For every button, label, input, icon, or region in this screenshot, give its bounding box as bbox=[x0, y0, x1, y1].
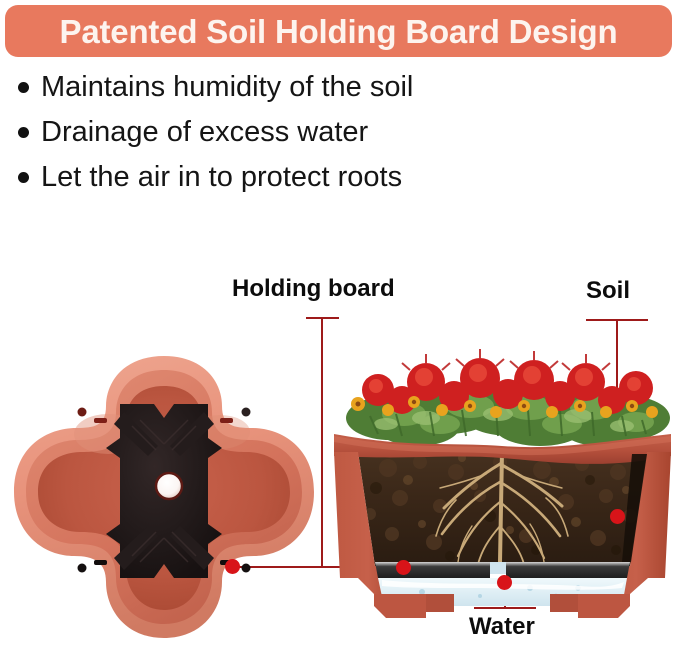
marker-water bbox=[497, 575, 512, 590]
feature-list: Maintains humidity of the soil Drainage … bbox=[18, 70, 658, 205]
list-item: Maintains humidity of the soil bbox=[18, 70, 658, 115]
pot-foot-left-2 bbox=[426, 594, 454, 612]
holding-board-gap bbox=[490, 562, 506, 574]
board-vent-hole bbox=[242, 564, 251, 573]
list-item-label: Maintains humidity of the soil bbox=[41, 70, 413, 104]
marker-holding-board-left bbox=[225, 559, 240, 574]
bullet-icon bbox=[18, 127, 29, 138]
marker-soil bbox=[610, 509, 625, 524]
infographic-canvas: Patented Soil Holding Board Design Maint… bbox=[0, 0, 679, 652]
leader-holding-board-vertical bbox=[321, 317, 323, 568]
board-slot bbox=[94, 560, 107, 565]
callout-label-soil: Soil bbox=[586, 277, 630, 305]
pot-foot-left bbox=[374, 594, 426, 618]
board-vent-hole bbox=[78, 408, 87, 417]
bullet-icon bbox=[18, 82, 29, 93]
marker-holding-board-right bbox=[396, 560, 411, 575]
page-title: Patented Soil Holding Board Design bbox=[60, 15, 618, 48]
planter-top-view bbox=[8, 352, 320, 642]
pot-foot-right-2 bbox=[550, 594, 578, 612]
list-item: Drainage of excess water bbox=[18, 115, 658, 160]
header-banner: Patented Soil Holding Board Design bbox=[5, 5, 672, 57]
holding-board-layer-left bbox=[375, 562, 490, 578]
list-item: Let the air in to protect roots bbox=[18, 160, 658, 205]
callout-label-holding-board: Holding board bbox=[232, 275, 395, 303]
bullet-icon bbox=[18, 172, 29, 183]
board-vent-hole bbox=[242, 408, 251, 417]
list-item-label: Let the air in to protect roots bbox=[41, 160, 402, 194]
board-vent-hole bbox=[78, 564, 87, 573]
board-slot bbox=[94, 418, 107, 423]
board-slot bbox=[220, 418, 233, 423]
holding-board-layer-right bbox=[506, 562, 630, 578]
list-item-label: Drainage of excess water bbox=[41, 115, 368, 149]
pot-foot-right bbox=[578, 594, 630, 618]
